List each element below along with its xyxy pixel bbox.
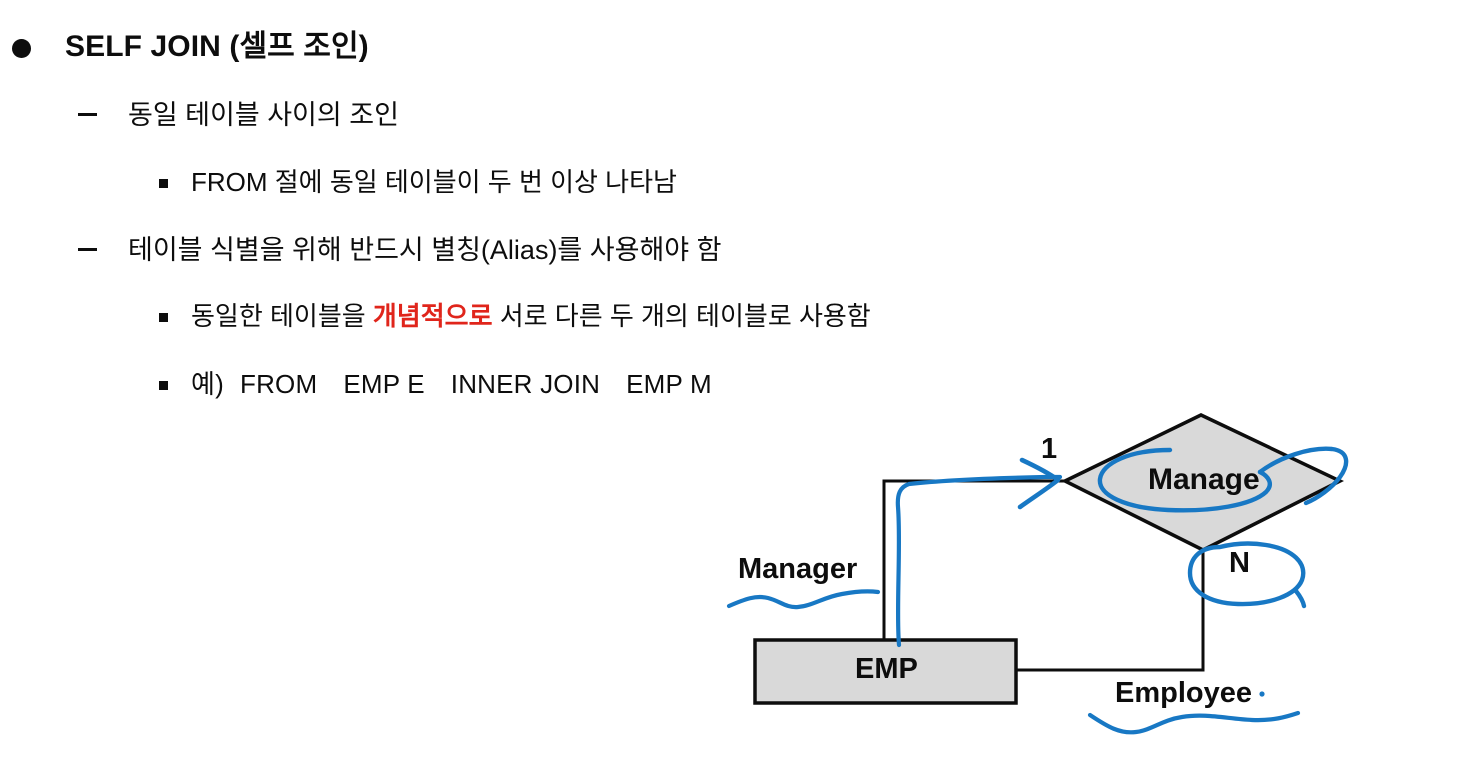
bullet-text-before: 동일한 테이블을 — [191, 301, 373, 331]
ink-dot — [1259, 691, 1264, 696]
bullet-dash-icon — [78, 113, 97, 116]
bullet-text: 테이블 식별을 위해 반드시 별칭(Alias)를 사용해야 함 — [128, 231, 721, 269]
ink-underline-manager — [729, 591, 878, 607]
ink-arrowhead-one — [1020, 460, 1058, 507]
er-diagram: Manage EMP Manager Employee 1 N — [700, 395, 1400, 767]
bullet-text: 동일한 테이블을 개념적으로 서로 다른 두 개의 테이블로 사용함 — [191, 298, 871, 334]
bullet-square-icon — [159, 381, 168, 390]
example-prefix: 예) — [191, 369, 224, 399]
bullet-item-1: 동일 테이블 사이의 조인 — [78, 96, 399, 134]
bullet-text-after: 서로 다른 두 개의 테이블로 사용함 — [493, 301, 871, 331]
page-title: SELF JOIN (셀프 조인) — [65, 27, 369, 67]
cardinality-label-n: N — [1229, 547, 1250, 580]
bullet-circle-icon — [12, 39, 31, 58]
bullet-text: 동일 테이블 사이의 조인 — [128, 96, 399, 134]
bullet-item-4: 동일한 테이블을 개념적으로 서로 다른 두 개의 테이블로 사용함 — [159, 298, 871, 334]
cardinality-label-one: 1 — [1041, 433, 1057, 466]
ink-underline-employee — [1090, 713, 1298, 732]
sql-example-text: 예)FROMEMP EINNER JOINEMP M — [191, 366, 712, 402]
sql-keyword-from: FROM — [240, 369, 317, 399]
bullet-square-icon — [159, 313, 168, 322]
entity-label: EMP — [855, 653, 918, 686]
sql-table-alias-m: EMP M — [626, 369, 712, 399]
ink-trace-manager-path — [898, 477, 1060, 645]
bullet-square-icon — [159, 179, 168, 188]
relationship-label: Manage — [1148, 463, 1260, 497]
sql-keyword-inner-join: INNER JOIN — [451, 369, 600, 399]
ink-circle-n-tail — [1296, 591, 1304, 606]
role-label-manager: Manager — [738, 553, 857, 586]
sql-table-alias-e: EMP E — [343, 369, 424, 399]
highlighted-term: 개념적으로 — [373, 301, 493, 331]
connector-employee-line — [1016, 550, 1203, 670]
bullet-dash-icon — [78, 248, 97, 251]
role-label-employee: Employee — [1115, 677, 1252, 710]
slide-title-row: SELF JOIN (셀프 조인) — [12, 27, 369, 67]
bullet-item-5: 예)FROMEMP EINNER JOINEMP M — [159, 366, 712, 402]
bullet-text: FROM 절에 동일 테이블이 두 번 이상 나타남 — [191, 164, 677, 200]
slide-canvas: SELF JOIN (셀프 조인) 동일 테이블 사이의 조인 FROM 절에 … — [0, 0, 1481, 767]
bullet-item-3: 테이블 식별을 위해 반드시 별칭(Alias)를 사용해야 함 — [78, 231, 721, 269]
connector-manager-line — [884, 481, 1065, 643]
bullet-item-2: FROM 절에 동일 테이블이 두 번 이상 나타남 — [159, 164, 677, 200]
